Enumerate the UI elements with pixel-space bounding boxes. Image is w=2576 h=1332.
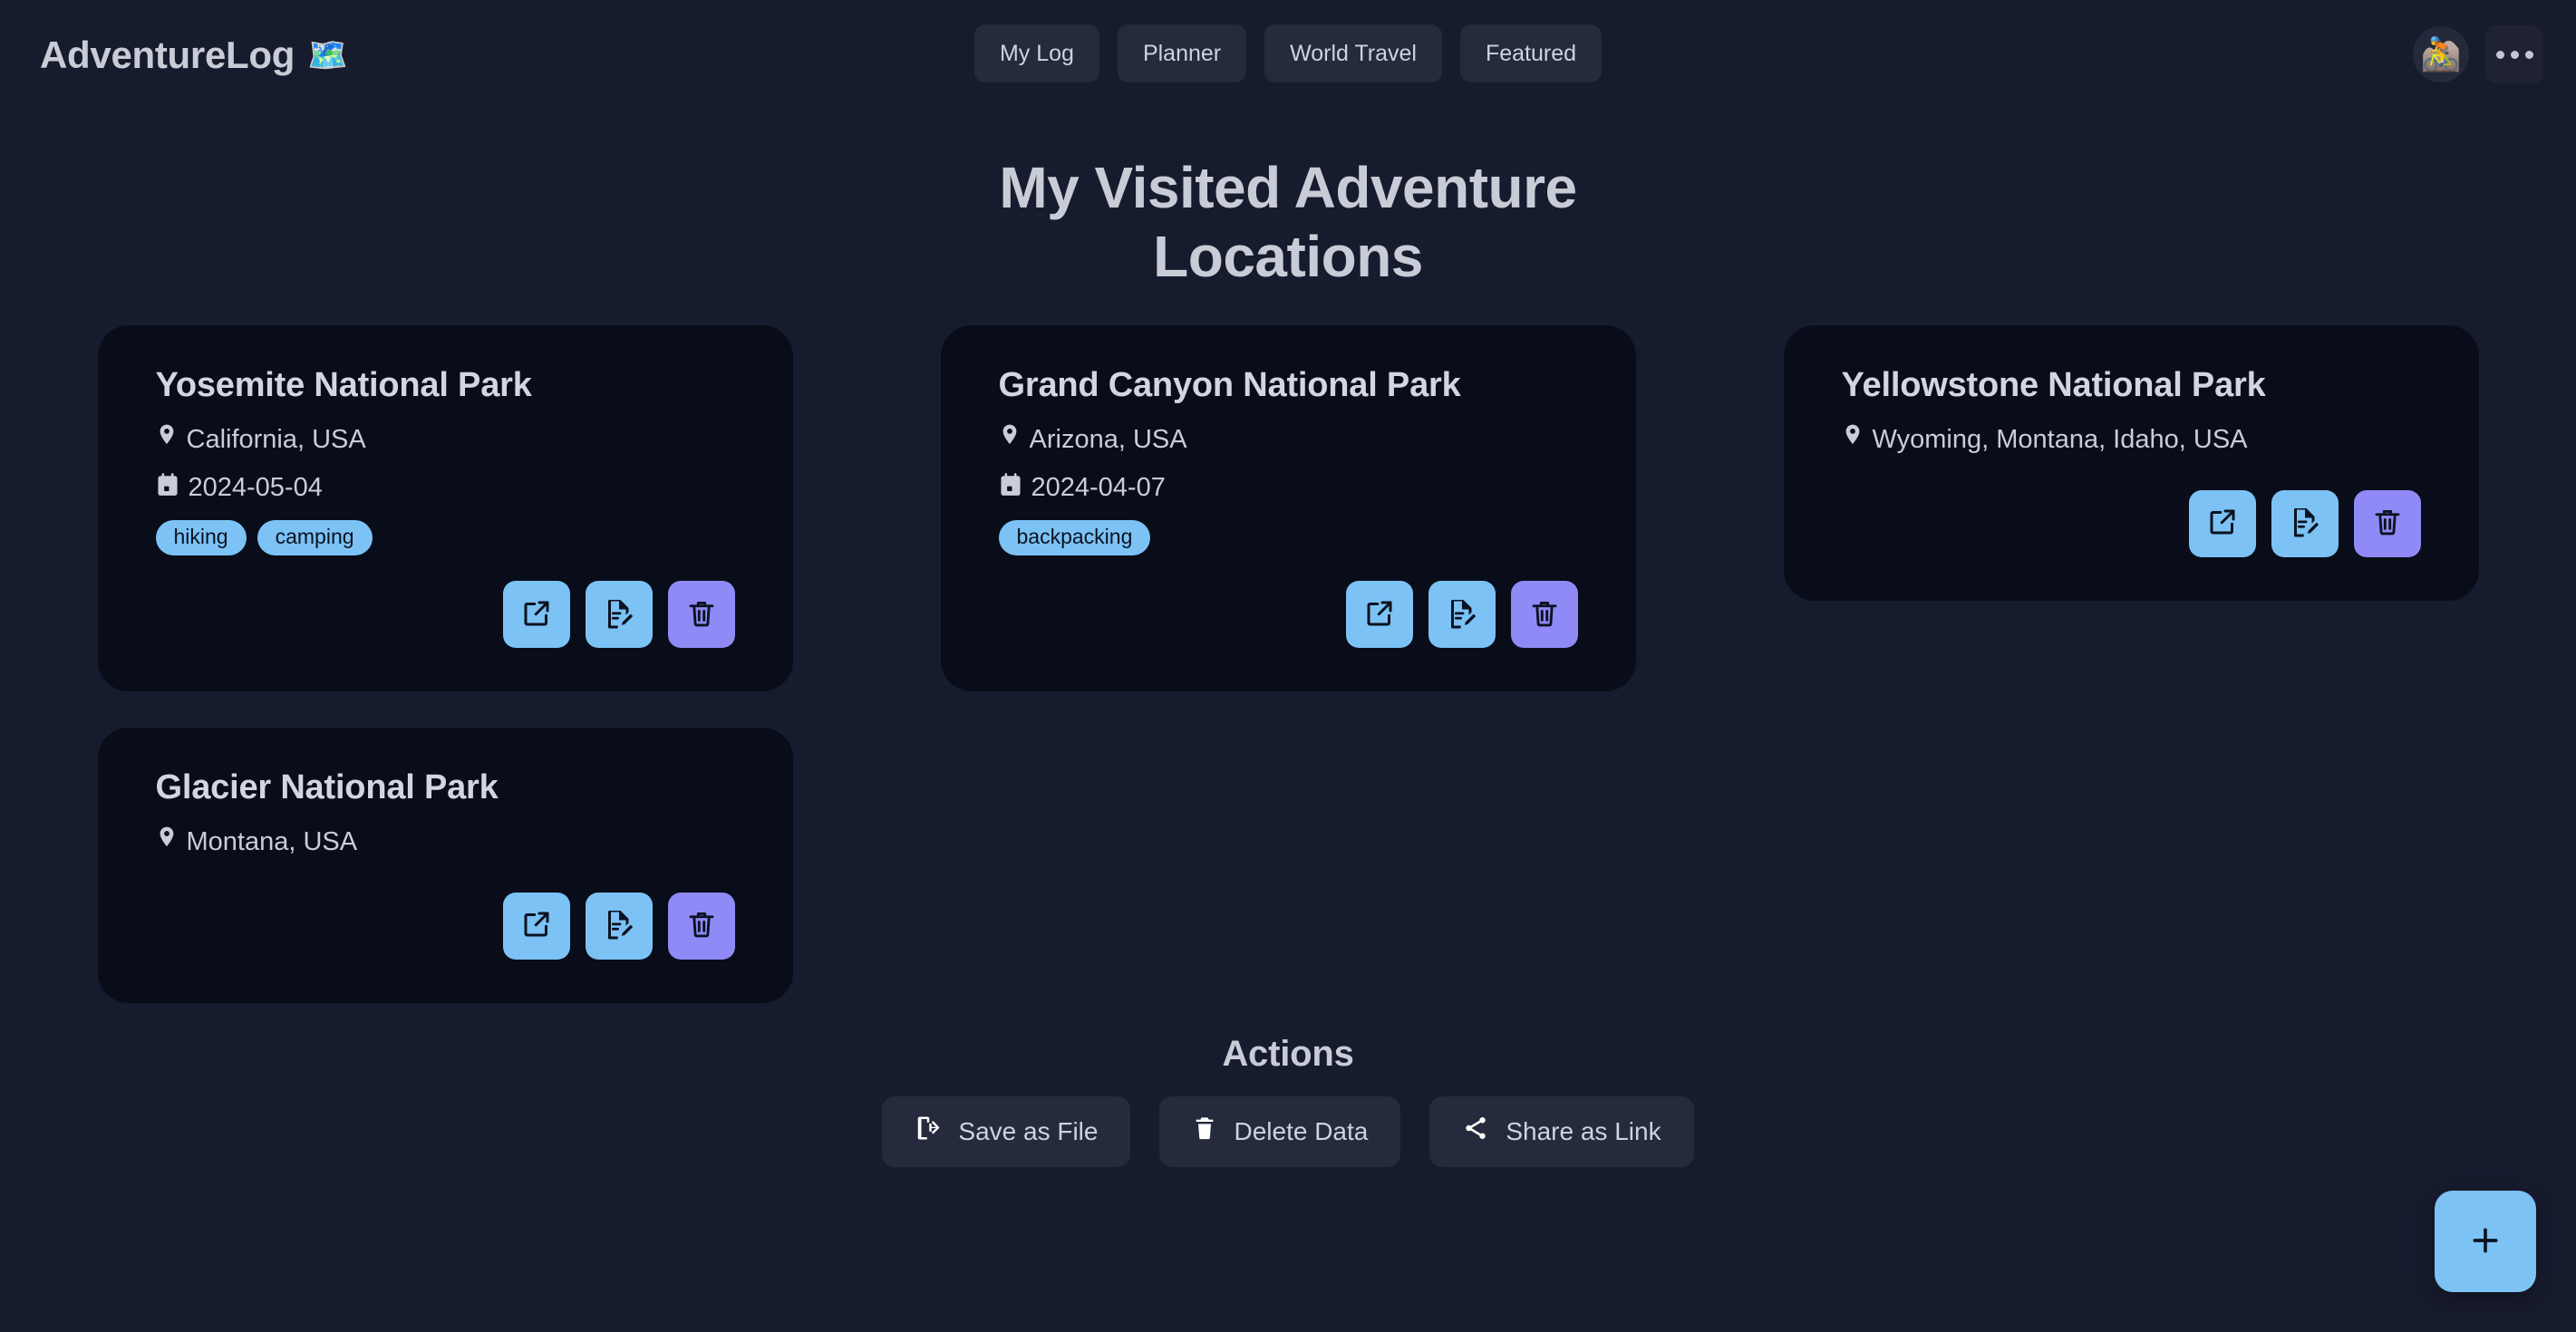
calendar-icon <box>999 472 1022 505</box>
adventure-card-title: Yosemite National Park <box>156 365 735 407</box>
tab-world-travel[interactable]: World Travel <box>1264 24 1442 82</box>
adventure-card-location: Arizona, USA <box>999 423 1578 458</box>
adventure-card-location-text: California, USA <box>187 426 366 455</box>
adventure-card-tags: backpacking <box>999 520 1578 555</box>
edit-document-icon <box>2289 506 2321 541</box>
adventure-card-title: Grand Canyon National Park <box>999 365 1578 407</box>
delete-icon <box>2371 506 2404 541</box>
adventure-card-location: Montana, USA <box>156 825 735 860</box>
adventure-card-location: California, USA <box>156 423 735 458</box>
adventure-card: Yellowstone National ParkWyoming, Montan… <box>1784 325 2479 600</box>
calendar-icon <box>156 472 179 505</box>
delete-data-button[interactable]: Delete Data <box>1159 1096 1400 1167</box>
tab-featured[interactable]: Featured <box>1460 24 1602 82</box>
open-external-icon <box>520 908 553 943</box>
actions-section: Actions Save as File Delete Data <box>0 1034 2576 1167</box>
edit-document-button[interactable] <box>1428 581 1496 648</box>
edit-document-icon <box>603 597 635 632</box>
location-pin-icon <box>156 825 178 860</box>
edit-document-button[interactable] <box>586 893 653 960</box>
plus-icon <box>2467 1222 2503 1261</box>
location-pin-icon <box>1842 423 1864 458</box>
share-as-link-button[interactable]: Share as Link <box>1429 1096 1693 1167</box>
open-external-button[interactable] <box>2189 490 2256 557</box>
adventure-card-date: 2024-05-04 <box>156 472 735 505</box>
open-external-icon <box>1363 597 1396 632</box>
open-external-button[interactable] <box>503 581 570 648</box>
open-external-button[interactable] <box>1346 581 1413 648</box>
tag-chip[interactable]: camping <box>257 520 373 555</box>
file-export-icon <box>915 1115 942 1148</box>
actions-heading: Actions <box>0 1034 2576 1075</box>
save-as-file-label: Save as File <box>958 1117 1098 1146</box>
delete-button[interactable] <box>668 581 735 648</box>
adventure-card-actions <box>999 563 1578 648</box>
tab-my-log[interactable]: My Log <box>974 24 1099 82</box>
adventure-card-date-text: 2024-05-04 <box>189 474 323 503</box>
adventure-card-title: Glacier National Park <box>156 767 735 809</box>
delete-icon <box>685 597 718 632</box>
adventure-card-title: Yellowstone National Park <box>1842 365 2421 407</box>
delete-button[interactable] <box>668 893 735 960</box>
adventure-card-tags: hikingcamping <box>156 520 735 555</box>
app-header: AdventureLog 🗺️ My Log Planner World Tra… <box>0 0 2576 134</box>
adventure-card-location: Wyoming, Montana, Idaho, USA <box>1842 423 2421 458</box>
save-as-file-button[interactable]: Save as File <box>882 1096 1130 1167</box>
adventure-card-date-text: 2024-04-07 <box>1031 474 1166 503</box>
brand-label: AdventureLog <box>40 36 295 74</box>
adventure-card-grid: Yosemite National ParkCalifornia, USA202… <box>0 325 2576 1003</box>
adventure-card-actions <box>156 874 735 960</box>
adventure-card-actions <box>156 563 735 648</box>
edit-document-button[interactable] <box>586 581 653 648</box>
tag-chip[interactable]: hiking <box>156 520 247 555</box>
ellipsis-icon-dot <box>2511 51 2519 59</box>
actions-button-row: Save as File Delete Data Share as Li <box>0 1096 2576 1167</box>
world-map-icon: 🗺️ <box>307 39 348 72</box>
location-pin-icon <box>156 423 178 458</box>
adventure-card-location-text: Montana, USA <box>187 828 358 857</box>
adventure-card-actions <box>1842 472 2421 557</box>
open-external-icon <box>2206 506 2239 541</box>
adventure-card: Grand Canyon National ParkArizona, USA20… <box>941 325 1636 691</box>
header-right-controls: 🚵 <box>2413 25 2543 83</box>
delete-icon <box>685 908 718 943</box>
tab-planner[interactable]: Planner <box>1118 24 1246 82</box>
edit-document-button[interactable] <box>2271 490 2339 557</box>
avatar[interactable]: 🚵 <box>2413 26 2469 82</box>
adventure-card: Yosemite National ParkCalifornia, USA202… <box>98 325 793 691</box>
app-brand[interactable]: AdventureLog 🗺️ <box>40 24 348 74</box>
ellipsis-icon-dot <box>2496 51 2504 59</box>
share-nodes-icon <box>1462 1115 1489 1148</box>
adventure-card-location-text: Wyoming, Montana, Idaho, USA <box>1873 426 2248 455</box>
ellipsis-icon-dot <box>2525 51 2533 59</box>
delete-button[interactable] <box>2354 490 2421 557</box>
edit-document-icon <box>603 908 635 943</box>
adventure-card-location-text: Arizona, USA <box>1030 426 1187 455</box>
delete-data-label: Delete Data <box>1234 1117 1368 1146</box>
page-title: My Visited Adventure Locations <box>916 154 1660 291</box>
location-pin-icon <box>999 423 1021 458</box>
overflow-menu-button[interactable] <box>2485 25 2543 83</box>
add-adventure-button[interactable] <box>2435 1191 2536 1292</box>
open-external-icon <box>520 597 553 632</box>
mountain-biker-icon: 🚵 <box>2421 38 2462 71</box>
main-navigation: My Log Planner World Travel Featured <box>974 24 1602 82</box>
trash-icon <box>1192 1115 1217 1147</box>
delete-button[interactable] <box>1511 581 1578 648</box>
adventure-card: Glacier National ParkMontana, USA <box>98 728 793 1002</box>
delete-icon <box>1528 597 1561 632</box>
share-as-link-label: Share as Link <box>1506 1117 1661 1146</box>
open-external-button[interactable] <box>503 893 570 960</box>
adventure-card-date: 2024-04-07 <box>999 472 1578 505</box>
tag-chip[interactable]: backpacking <box>999 520 1151 555</box>
edit-document-icon <box>1446 597 1478 632</box>
